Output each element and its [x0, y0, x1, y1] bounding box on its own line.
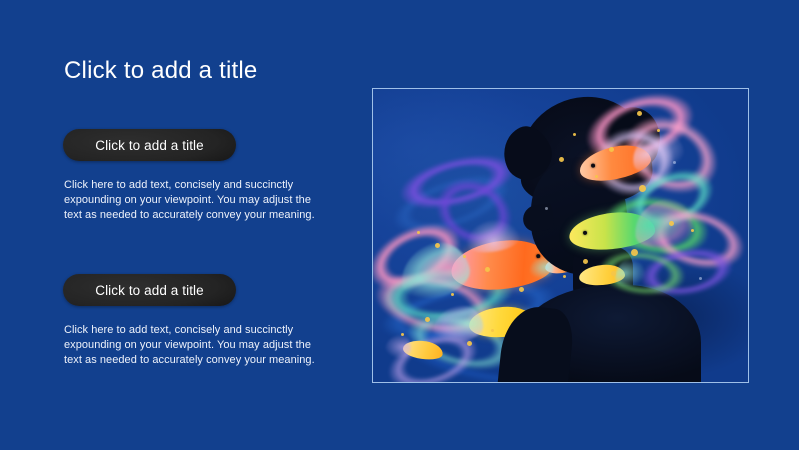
- sparkle-bubble: [583, 259, 588, 264]
- sparkle-bubble: [657, 129, 660, 132]
- sparkle-bubble: [485, 267, 490, 272]
- sparkle-bubble: [691, 229, 694, 232]
- slide-canvas: Click to add a title Click to add a titl…: [0, 0, 799, 450]
- sparkle-bubble: [639, 185, 646, 192]
- sparkle-bubble: [563, 275, 566, 278]
- sparkle-bubble: [425, 317, 430, 322]
- sparkle-bubble: [637, 111, 642, 116]
- page-title[interactable]: Click to add a title: [64, 57, 257, 85]
- sparkle-bubble: [673, 161, 676, 164]
- sparkle-bubble: [463, 255, 466, 258]
- sparkle-bubble: [451, 293, 454, 296]
- pill-button-2[interactable]: Click to add a title: [63, 274, 236, 306]
- body-text-2[interactable]: Click here to add text, concisely and su…: [64, 323, 326, 369]
- sparkle-bubble: [491, 329, 494, 332]
- silhouette-torso: [515, 285, 701, 382]
- sparkle-bubble: [611, 271, 616, 276]
- artwork-illustration: [373, 89, 748, 382]
- sparkle-bubble: [609, 147, 614, 152]
- sparkle-bubble: [669, 221, 674, 226]
- fish-small-shoulder: [578, 263, 626, 287]
- pill-button-1[interactable]: Click to add a title: [63, 129, 236, 161]
- sparkle-bubble: [595, 175, 598, 178]
- sparkle-bubble: [401, 333, 404, 336]
- sparkle-bubble: [435, 243, 440, 248]
- sparkle-bubble: [699, 277, 702, 280]
- sparkle-bubble: [519, 287, 524, 292]
- sparkle-bubble: [573, 133, 576, 136]
- sparkle-bubble: [559, 157, 564, 162]
- silhouette-nose-profile: [521, 203, 554, 233]
- body-text-1[interactable]: Click here to add text, concisely and su…: [64, 178, 326, 224]
- sparkle-bubble: [467, 341, 472, 346]
- sparkle-bubble: [417, 231, 420, 234]
- sparkle-bubble: [631, 249, 638, 256]
- pill-button-2-label: Click to add a title: [95, 283, 204, 298]
- artwork-frame[interactable]: [372, 88, 749, 383]
- pill-button-1-label: Click to add a title: [95, 138, 204, 153]
- sparkle-bubble: [545, 207, 548, 210]
